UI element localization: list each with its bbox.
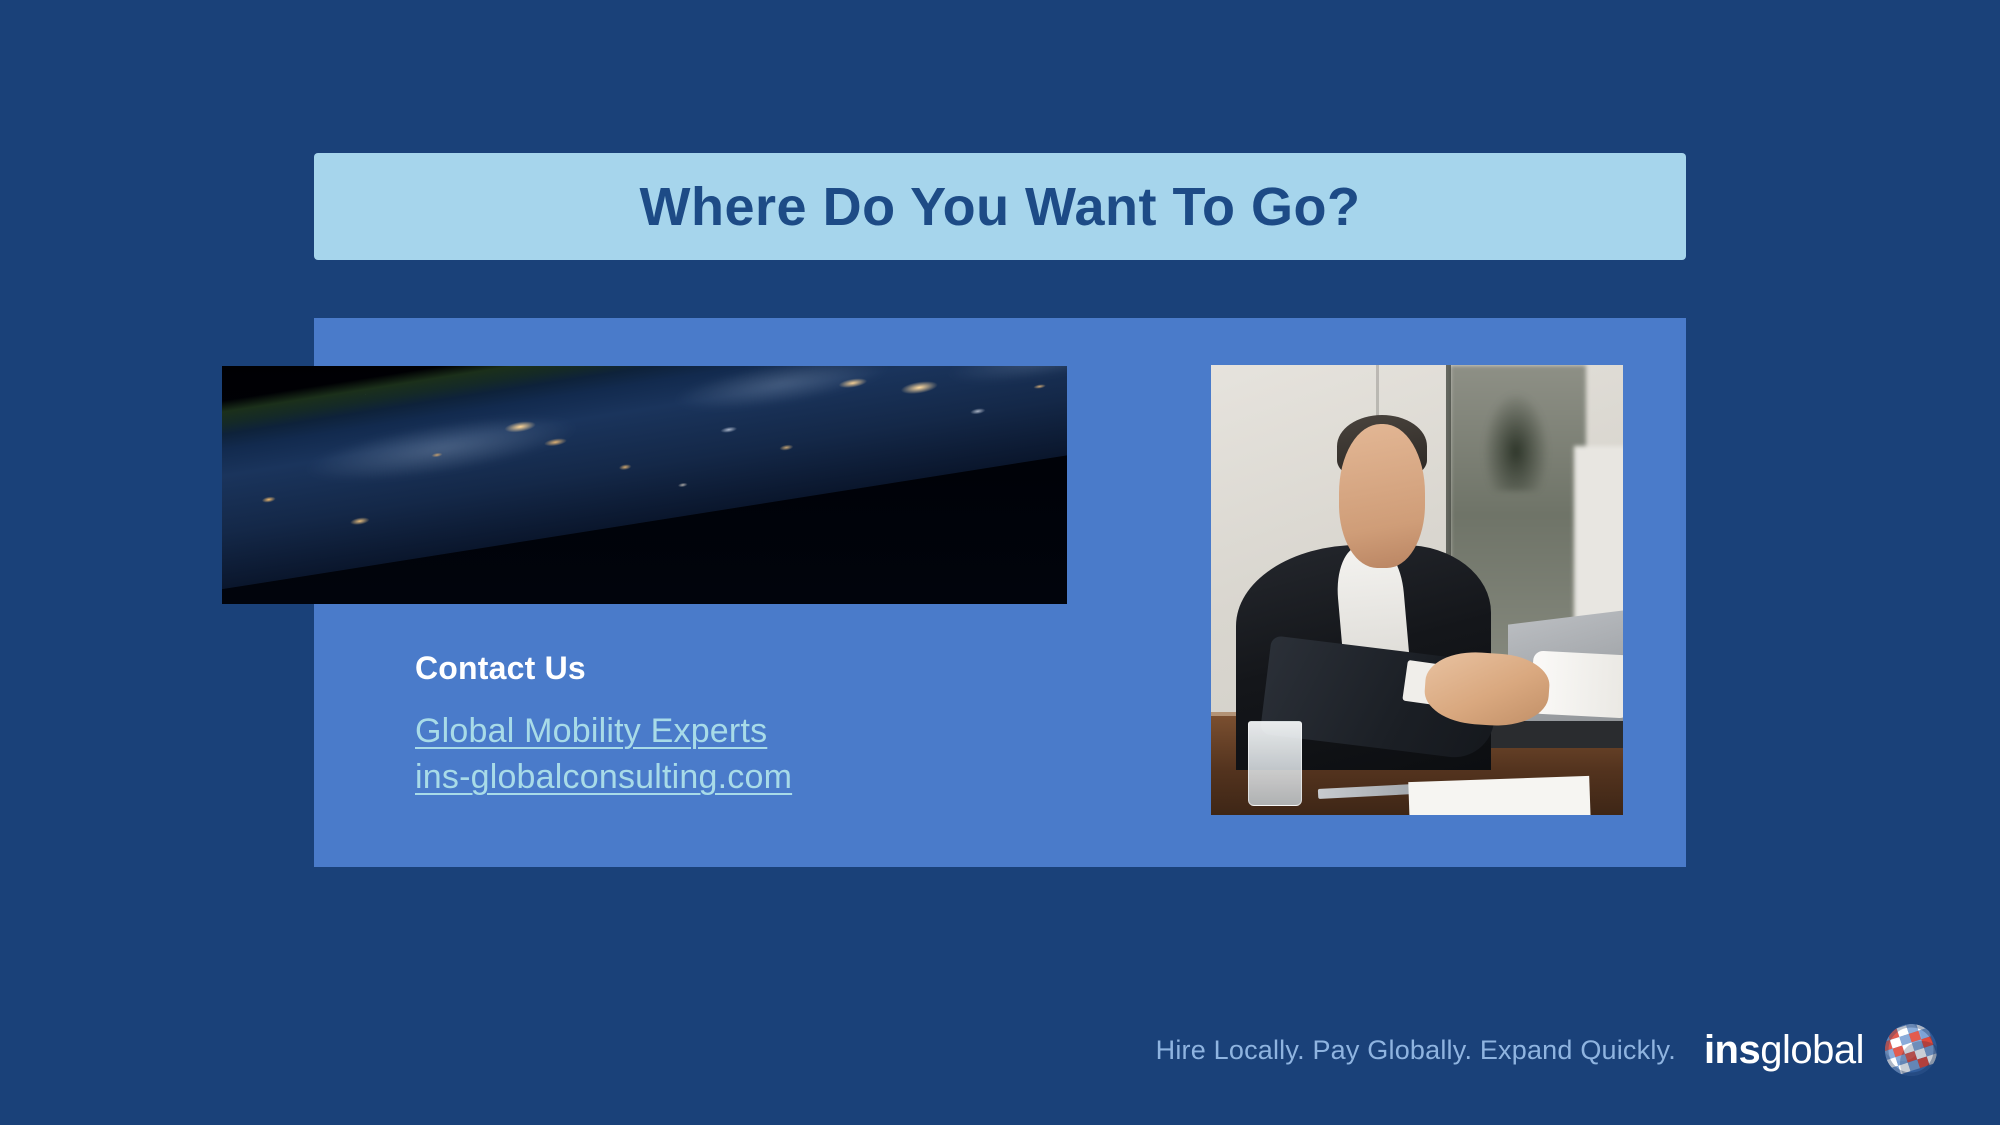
brand-logo: insglobal — [1704, 1019, 1942, 1081]
contact-heading: Contact Us — [415, 650, 1035, 687]
globe-icon — [1880, 1019, 1942, 1081]
brand-wordmark: insglobal — [1704, 1028, 1864, 1073]
title-banner: Where Do You Want To Go? — [314, 153, 1686, 260]
contact-link-global-mobility-experts[interactable]: Global Mobility Experts — [415, 709, 1035, 755]
handshake-photo — [1211, 365, 1623, 815]
slide-canvas: Where Do You Want To Go? Contact Us Glob… — [0, 0, 2000, 1125]
photo-person-head — [1339, 424, 1426, 568]
earth-night-photo — [222, 366, 1067, 604]
photo-water-glass — [1248, 721, 1302, 807]
footer-tagline: Hire Locally. Pay Globally. Expand Quick… — [1156, 1035, 1676, 1066]
page-title: Where Do You Want To Go? — [640, 176, 1361, 238]
brand-wordmark-light: global — [1760, 1028, 1864, 1072]
photo-plant — [1483, 392, 1549, 491]
contact-link-website[interactable]: ins-globalconsulting.com — [415, 755, 1035, 801]
footer: Hire Locally. Pay Globally. Expand Quick… — [0, 1019, 2000, 1081]
brand-wordmark-bold: ins — [1704, 1028, 1760, 1072]
photo-laptop-base — [1491, 721, 1623, 748]
photo-papers — [1408, 776, 1591, 815]
contact-block: Contact Us Global Mobility Experts ins-g… — [415, 650, 1035, 801]
